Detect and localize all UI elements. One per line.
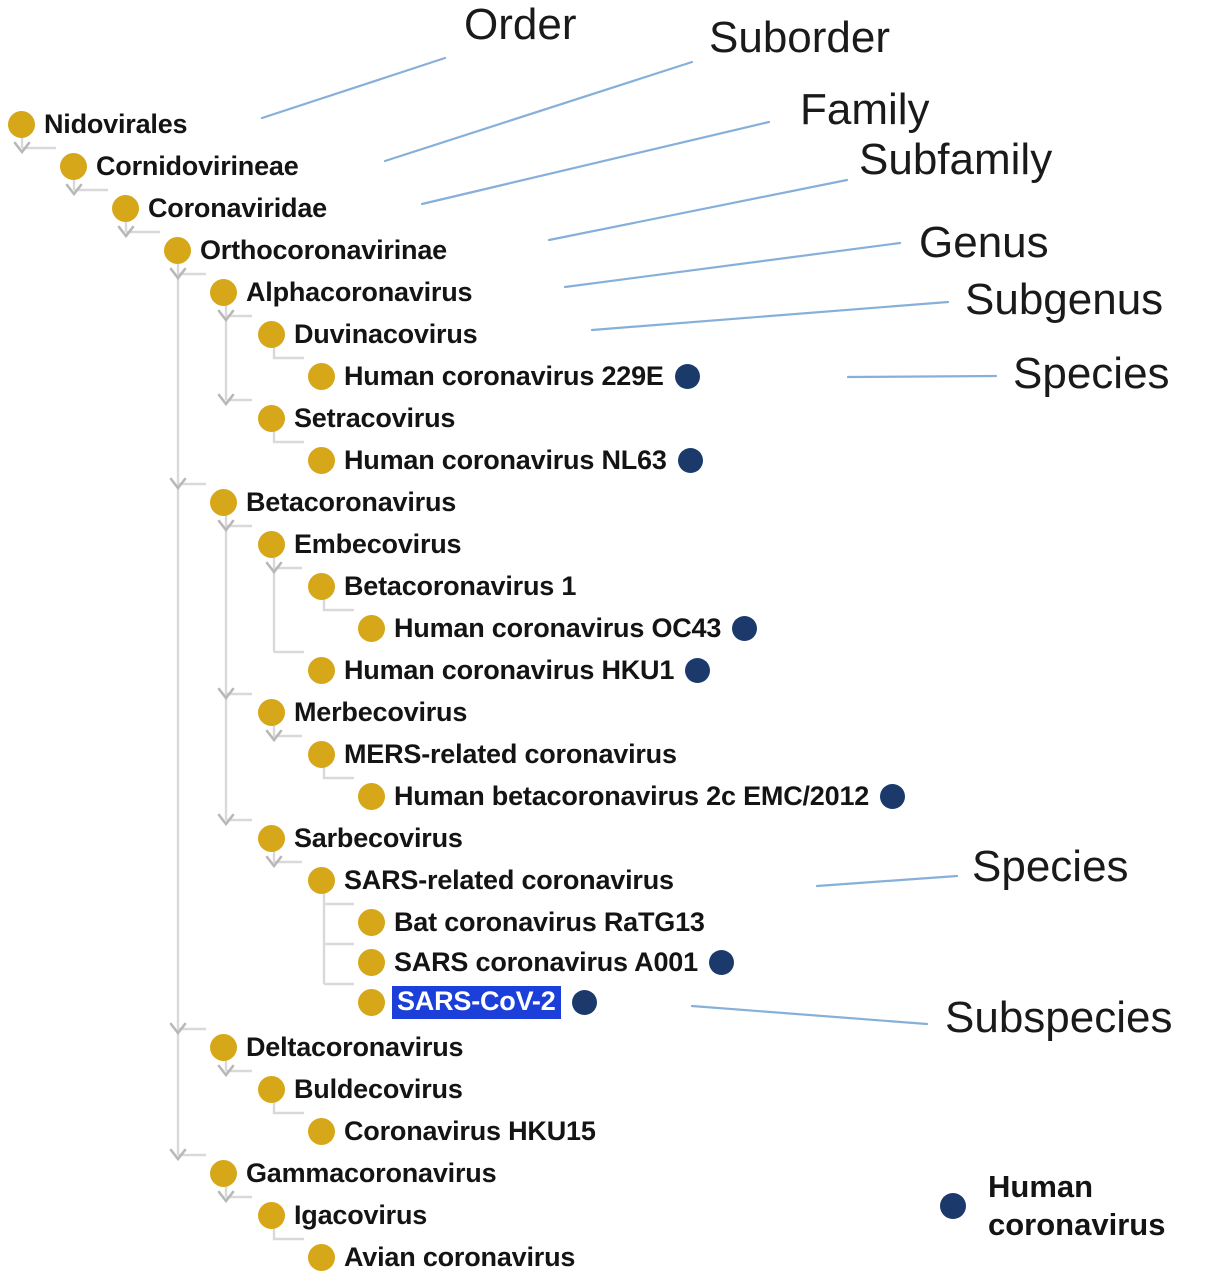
- human-coronavirus-dot-icon: [572, 990, 597, 1015]
- tree-node-label[interactable]: Coronaviridae: [148, 195, 327, 222]
- tree-node-row[interactable]: Buldecovirus: [258, 1068, 463, 1110]
- taxonomy-tree: NidoviralesCornidovirineaeCoronaviridaeO…: [0, 0, 1222, 1280]
- human-coronavirus-dot-icon: [880, 784, 905, 809]
- tree-node-label[interactable]: Duvinacovirus: [294, 321, 477, 348]
- tree-node-label[interactable]: Igacovirus: [294, 1202, 427, 1229]
- rank-label-subfamily: Subfamily: [859, 138, 1052, 182]
- tree-node-label[interactable]: Human betacoronavirus 2c EMC/2012: [394, 783, 869, 810]
- taxon-node-dot-icon: [258, 405, 285, 432]
- rank-label-species-2: Species: [972, 845, 1129, 889]
- tree-node-label[interactable]: Betacoronavirus: [246, 489, 456, 516]
- tree-node-label[interactable]: Human coronavirus NL63: [344, 447, 667, 474]
- tree-node-label[interactable]: Avian coronavirus: [344, 1244, 575, 1271]
- tree-node-label[interactable]: Buldecovirus: [294, 1076, 463, 1103]
- taxon-node-dot-icon: [8, 111, 35, 138]
- tree-node-row[interactable]: Bat coronavirus RaTG13: [358, 901, 705, 943]
- tree-node-row[interactable]: SARS-CoV-2: [358, 981, 597, 1023]
- taxon-node-dot-icon: [308, 1118, 335, 1145]
- tree-node-label[interactable]: SARS coronavirus A001: [394, 949, 698, 976]
- tree-node-row[interactable]: Sarbecovirus: [258, 817, 463, 859]
- taxon-node-dot-icon: [258, 531, 285, 558]
- human-coronavirus-dot-icon: [709, 950, 734, 975]
- tree-node-row[interactable]: MERS-related coronavirus: [308, 733, 677, 775]
- taxon-node-dot-icon: [308, 1244, 335, 1271]
- tree-node-row[interactable]: Human coronavirus HKU1: [308, 649, 710, 691]
- tree-node-label[interactable]: Coronavirus HKU15: [344, 1118, 596, 1145]
- tree-node-row[interactable]: Human coronavirus 229E: [308, 355, 700, 397]
- tree-node-row[interactable]: Igacovirus: [258, 1194, 427, 1236]
- legend-line-2: coronavirus: [988, 1207, 1165, 1242]
- taxon-node-dot-icon: [258, 1076, 285, 1103]
- human-coronavirus-dot-icon: [678, 448, 703, 473]
- tree-node-label[interactable]: Betacoronavirus 1: [344, 573, 576, 600]
- taxon-node-dot-icon: [308, 867, 335, 894]
- human-coronavirus-dot-icon: [675, 364, 700, 389]
- tree-node-row[interactable]: Embecovirus: [258, 523, 461, 565]
- tree-node-label[interactable]: Human coronavirus 229E: [344, 363, 664, 390]
- tree-node-label[interactable]: SARS-related coronavirus: [344, 867, 674, 894]
- tree-node-row[interactable]: SARS coronavirus A001: [358, 941, 734, 983]
- rank-label-order: Order: [464, 3, 576, 47]
- rank-label-species-1: Species: [1013, 352, 1170, 396]
- taxon-node-dot-icon: [308, 657, 335, 684]
- rank-label-genus: Genus: [919, 221, 1049, 265]
- taxon-node-dot-icon: [358, 615, 385, 642]
- taxon-node-dot-icon: [358, 909, 385, 936]
- tree-node-label[interactable]: Cornidovirineae: [96, 153, 299, 180]
- taxon-node-dot-icon: [112, 195, 139, 222]
- taxon-node-dot-icon: [358, 949, 385, 976]
- rank-label-subspecies: Subspecies: [945, 996, 1172, 1040]
- tree-node-label[interactable]: Orthocoronavirinae: [200, 237, 447, 264]
- tree-node-row[interactable]: Merbecovirus: [258, 691, 467, 733]
- taxon-node-dot-icon: [308, 573, 335, 600]
- tree-node-label[interactable]: Alphacoronavirus: [246, 279, 472, 306]
- tree-node-row[interactable]: Betacoronavirus 1: [308, 565, 576, 607]
- taxon-node-dot-icon: [60, 153, 87, 180]
- tree-node-row[interactable]: Deltacoronavirus: [210, 1026, 463, 1068]
- tree-node-row[interactable]: Human betacoronavirus 2c EMC/2012: [358, 775, 905, 817]
- taxon-node-dot-icon: [210, 1034, 237, 1061]
- tree-node-label[interactable]: MERS-related coronavirus: [344, 741, 677, 768]
- tree-node-row[interactable]: Orthocoronavirinae: [164, 229, 447, 271]
- taxon-node-dot-icon: [164, 237, 191, 264]
- taxon-node-dot-icon: [358, 989, 385, 1016]
- taxon-node-dot-icon: [210, 1160, 237, 1187]
- tree-node-label[interactable]: Embecovirus: [294, 531, 461, 558]
- tree-node-label[interactable]: Deltacoronavirus: [246, 1034, 463, 1061]
- tree-node-row[interactable]: Gammacoronavirus: [210, 1152, 496, 1194]
- taxon-node-dot-icon: [308, 363, 335, 390]
- rank-label-suborder: Suborder: [709, 16, 890, 60]
- legend-label: Humancoronavirus: [988, 1168, 1165, 1244]
- tree-node-row[interactable]: Nidovirales: [8, 103, 187, 145]
- rank-label-family: Family: [800, 88, 930, 132]
- tree-node-label[interactable]: Nidovirales: [44, 111, 187, 138]
- taxon-node-dot-icon: [358, 783, 385, 810]
- tree-node-row[interactable]: Setracovirus: [258, 397, 455, 439]
- legend: Humancoronavirus: [940, 1168, 1165, 1244]
- tree-node-label[interactable]: Setracovirus: [294, 405, 455, 432]
- tree-node-label[interactable]: Gammacoronavirus: [246, 1160, 496, 1187]
- tree-node-row[interactable]: Human coronavirus NL63: [308, 439, 703, 481]
- legend-line-1: Human: [988, 1169, 1093, 1204]
- tree-node-label[interactable]: Human coronavirus OC43: [394, 615, 721, 642]
- human-coronavirus-dot-icon: [685, 658, 710, 683]
- taxon-node-dot-icon: [308, 741, 335, 768]
- tree-node-row[interactable]: Duvinacovirus: [258, 313, 477, 355]
- taxon-node-dot-icon: [258, 1202, 285, 1229]
- tree-node-label[interactable]: Human coronavirus HKU1: [344, 657, 674, 684]
- taxon-node-dot-icon: [210, 489, 237, 516]
- tree-node-row[interactable]: Coronavirus HKU15: [308, 1110, 596, 1152]
- rank-label-subgenus: Subgenus: [965, 278, 1163, 322]
- tree-node-label[interactable]: Bat coronavirus RaTG13: [394, 909, 705, 936]
- tree-node-row[interactable]: SARS-related coronavirus: [308, 859, 674, 901]
- taxon-node-dot-icon: [258, 699, 285, 726]
- tree-node-row[interactable]: Alphacoronavirus: [210, 271, 472, 313]
- tree-node-row[interactable]: Cornidovirineae: [60, 145, 299, 187]
- tree-node-row[interactable]: Avian coronavirus: [308, 1236, 575, 1278]
- tree-node-label[interactable]: SARS-CoV-2: [392, 986, 561, 1019]
- tree-node-row[interactable]: Human coronavirus OC43: [358, 607, 757, 649]
- human-coronavirus-dot-icon: [732, 616, 757, 641]
- tree-node-label[interactable]: Sarbecovirus: [294, 825, 463, 852]
- legend-human-coronavirus-dot-icon: [940, 1193, 966, 1219]
- tree-node-label[interactable]: Merbecovirus: [294, 699, 467, 726]
- tree-node-row[interactable]: Betacoronavirus: [210, 481, 456, 523]
- taxon-node-dot-icon: [210, 279, 237, 306]
- taxonomy-diagram: NidoviralesCornidovirineaeCoronaviridaeO…: [0, 0, 1222, 1280]
- taxon-node-dot-icon: [308, 447, 335, 474]
- taxon-node-dot-icon: [258, 825, 285, 852]
- tree-node-row[interactable]: Coronaviridae: [112, 187, 327, 229]
- taxon-node-dot-icon: [258, 321, 285, 348]
